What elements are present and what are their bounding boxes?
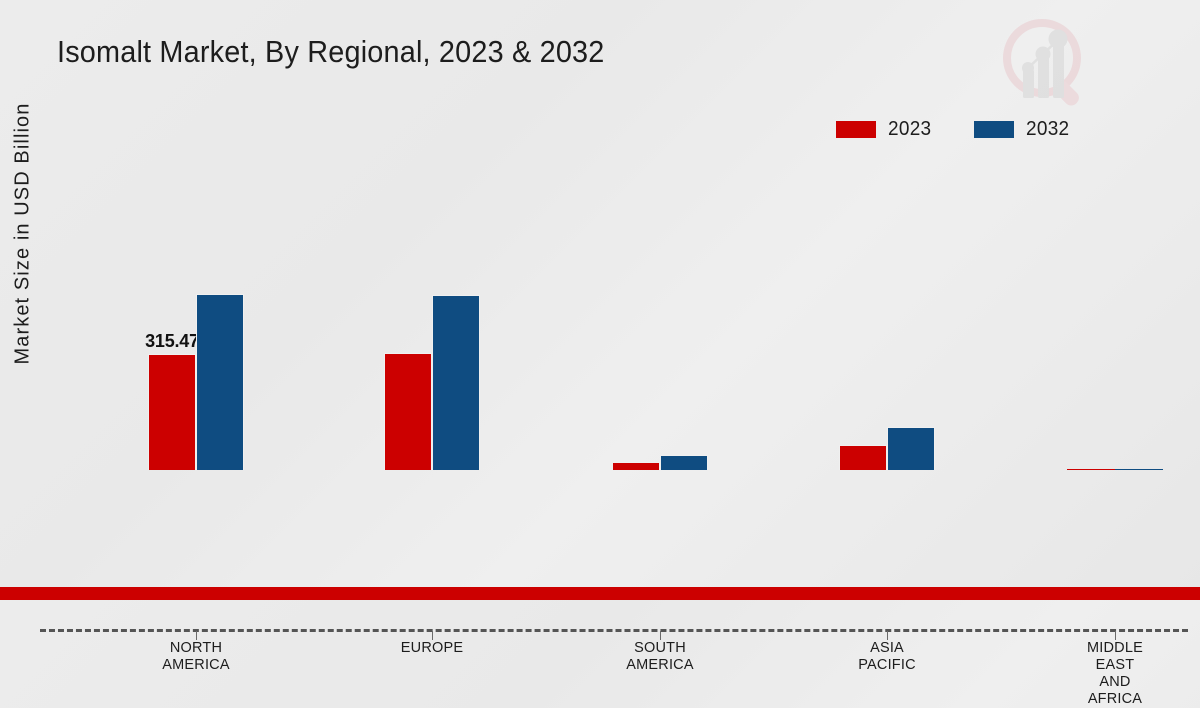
x-axis-category-label: MIDDLE EAST AND AFRICA	[1035, 640, 1195, 708]
x-axis-category-label: NORTH AMERICA	[116, 640, 276, 674]
legend-swatch-2032	[974, 121, 1014, 138]
legend-label-2032: 2032	[1026, 118, 1069, 141]
x-axis-category-label: EUROPE	[352, 640, 512, 657]
bottom-accent-bar	[0, 587, 1200, 600]
x-axis-baseline	[40, 629, 1188, 632]
x-axis-tick	[1115, 631, 1116, 640]
bar-2032-europe[interactable]	[432, 295, 480, 470]
bar-2023-north-america[interactable]: 315.47	[148, 354, 196, 470]
bar-2023-europe[interactable]	[384, 353, 432, 470]
bar-group: 315.47	[148, 1, 244, 470]
bar-2032-middle-east-and-africa[interactable]	[1115, 469, 1163, 470]
bar-2032-asia-pacific[interactable]	[887, 427, 935, 470]
bar-2023-asia-pacific[interactable]	[839, 445, 887, 470]
bar-value-label: 315.47	[145, 331, 199, 352]
bar-group	[1067, 1, 1163, 470]
legend-item-2032[interactable]: 2032	[974, 118, 1072, 141]
x-axis-tick	[196, 631, 197, 640]
bar-group	[612, 1, 708, 470]
bar-2023-south-america[interactable]	[612, 462, 660, 470]
bar-2023-middle-east-and-africa[interactable]	[1067, 469, 1115, 470]
x-axis-category-label: SOUTH AMERICA	[580, 640, 740, 674]
chart-title: Isomalt Market, By Regional, 2023 & 2032	[57, 34, 605, 70]
y-axis-title: Market Size in USD Billion	[12, 69, 35, 399]
bar-group	[384, 1, 480, 470]
x-axis-tick	[887, 631, 888, 640]
bar-2032-north-america[interactable]	[196, 294, 244, 470]
plot-area: 315.47 NORTH AMERICAEUROPESOUTH AMERICAA…	[40, 160, 1188, 470]
x-axis-category-label: ASIA PACIFIC	[807, 640, 967, 674]
bar-2032-south-america[interactable]	[660, 455, 708, 470]
bar-group	[839, 1, 935, 470]
x-axis-tick	[660, 631, 661, 640]
x-axis-tick	[432, 631, 433, 640]
